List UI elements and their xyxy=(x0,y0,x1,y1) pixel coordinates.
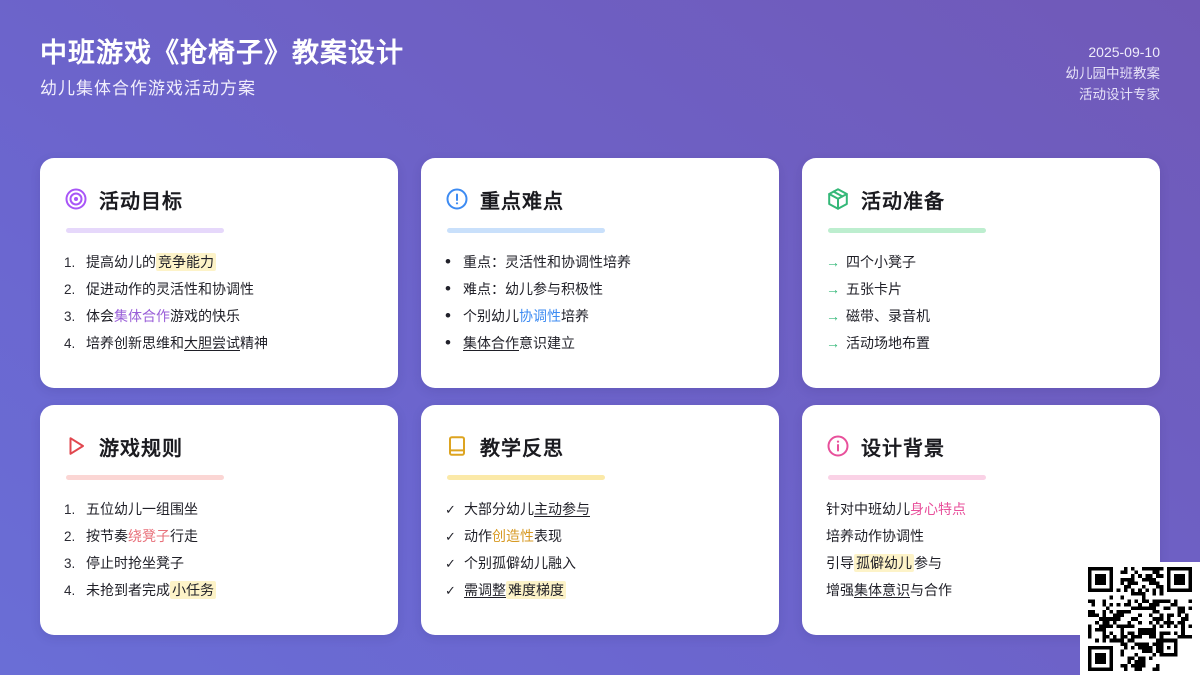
item-marker: 2. xyxy=(64,276,80,303)
page-subtitle: 幼儿集体合作游戏活动方案 xyxy=(40,76,404,102)
item-text-part: 集体合作 xyxy=(463,335,519,351)
card-title: 活动准备 xyxy=(861,185,945,214)
list-item: 针对中班幼儿身心特点 xyxy=(826,496,1136,523)
item-text-part: 促进动作的灵活性和协调性 xyxy=(86,281,254,297)
meta-date: 2025-09-10 xyxy=(1088,42,1160,63)
item-marker: 1. xyxy=(64,249,80,276)
item-text-part: 行走 xyxy=(170,528,198,544)
card-header: 活动目标 xyxy=(64,184,374,214)
item-text-part: 提高幼儿的 xyxy=(86,254,156,270)
item-text-part: 主动参与 xyxy=(534,501,590,517)
list-item: →活动场地布置 xyxy=(826,330,1136,357)
card-header: 重点难点 xyxy=(445,184,755,214)
item-text: 活动场地布置 xyxy=(846,330,930,357)
list-item: →四个小凳子 xyxy=(826,249,1136,276)
item-text-part: 集体意识 xyxy=(854,582,910,598)
list-item: 3.体会集体合作游戏的快乐 xyxy=(64,303,374,330)
item-text-part: 停止时抢坐凳子 xyxy=(86,555,184,571)
card-header: 游戏规则 xyxy=(64,431,374,461)
item-text: 针对中班幼儿身心特点 xyxy=(826,496,966,523)
item-text: 促进动作的灵活性和协调性 xyxy=(86,276,254,303)
header-meta: 2025-09-10 幼儿园中班教案 活动设计专家 xyxy=(1066,36,1161,105)
item-text: 磁带、录音机 xyxy=(846,303,930,330)
item-text: 大部分幼儿主动参与 xyxy=(464,496,590,523)
list-item: 4.未抢到者完成小任务 xyxy=(64,577,374,604)
card-item-list: 1.提高幼儿的竞争能力2.促进动作的灵活性和协调性3.体会集体合作游戏的快乐4.… xyxy=(64,249,374,357)
item-text-part: 四个小凳子 xyxy=(846,254,916,270)
list-item: 2.促进动作的灵活性和协调性 xyxy=(64,276,374,303)
item-marker: → xyxy=(826,249,840,276)
item-text-part: 竞争能力 xyxy=(156,253,216,271)
item-text: 停止时抢坐凳子 xyxy=(86,550,184,577)
item-text: 重点：灵活性和协调性培养 xyxy=(463,249,631,276)
item-text-part: 引导 xyxy=(826,555,854,571)
item-text-part: 绕凳子 xyxy=(128,528,170,544)
card-activity-goals: 活动目标1.提高幼儿的竞争能力2.促进动作的灵活性和协调性3.体会集体合作游戏的… xyxy=(40,158,398,388)
item-text-part: 个别幼儿 xyxy=(463,308,519,324)
target-icon xyxy=(64,187,88,211)
card-key-difficulties: 重点难点•重点：灵活性和协调性培养•难点：幼儿参与积极性•个别幼儿协调性培养•集… xyxy=(421,158,779,388)
alert-circle-icon xyxy=(445,187,469,211)
list-item: ✓需调整难度梯度 xyxy=(445,577,755,604)
card-accent-bar xyxy=(447,475,605,480)
item-text: 培养动作协调性 xyxy=(826,523,924,550)
item-text: 难点：幼儿参与积极性 xyxy=(463,276,603,303)
item-text-part: 培养 xyxy=(561,308,589,324)
item-text: 体会集体合作游戏的快乐 xyxy=(86,303,240,330)
item-marker: → xyxy=(826,303,840,330)
list-item: 1.五位幼儿一组围坐 xyxy=(64,496,374,523)
list-item: 培养动作协调性 xyxy=(826,523,1136,550)
list-item: ✓个别孤僻幼儿融入 xyxy=(445,550,755,577)
play-triangle-icon xyxy=(64,434,88,458)
card-accent-bar xyxy=(447,228,605,233)
item-text: 个别幼儿协调性培养 xyxy=(463,303,589,330)
item-marker: 3. xyxy=(64,550,80,577)
item-text-part: 培养动作协调性 xyxy=(826,528,924,544)
card-header: 设计背景 xyxy=(826,431,1136,461)
item-text-part: 身心特点 xyxy=(910,501,966,517)
list-item: •集体合作意识建立 xyxy=(445,330,755,357)
item-text-part: 个别孤僻幼儿融入 xyxy=(464,555,576,571)
qr-code[interactable] xyxy=(1088,567,1192,671)
item-text: 按节奏绕凳子行走 xyxy=(86,523,198,550)
item-text-part: 精神 xyxy=(240,335,268,351)
item-text-part: 与合作 xyxy=(910,582,952,598)
item-text: 需调整难度梯度 xyxy=(464,577,566,604)
item-marker: • xyxy=(445,249,457,275)
item-text: 个别孤僻幼儿融入 xyxy=(464,550,576,577)
list-item: 2.按节奏绕凳子行走 xyxy=(64,523,374,550)
card-accent-bar xyxy=(66,228,224,233)
page-header: 中班游戏《抢椅子》教案设计 幼儿集体合作游戏活动方案 2025-09-10 幼儿… xyxy=(0,0,1200,140)
item-text: 五位幼儿一组围坐 xyxy=(86,496,198,523)
meta-category: 幼儿园中班教案 xyxy=(1066,63,1161,84)
card-title: 重点难点 xyxy=(480,185,564,214)
item-text-part: 动作 xyxy=(464,528,492,544)
list-item: →磁带、录音机 xyxy=(826,303,1136,330)
item-text: 四个小凳子 xyxy=(846,249,916,276)
item-text-part: 难点：幼儿参与积极性 xyxy=(463,281,603,297)
title-block: 中班游戏《抢椅子》教案设计 幼儿集体合作游戏活动方案 xyxy=(40,36,404,102)
item-marker: ✓ xyxy=(445,496,458,523)
item-text: 动作创造性表现 xyxy=(464,523,562,550)
item-text-part: 参与 xyxy=(914,555,942,571)
item-marker: 4. xyxy=(64,330,80,357)
list-item: •个别幼儿协调性培养 xyxy=(445,303,755,330)
item-text-part: 增强 xyxy=(826,582,854,598)
item-text-part: 磁带、录音机 xyxy=(846,308,930,324)
card-header: 教学反思 xyxy=(445,431,755,461)
item-text-part: 协调性 xyxy=(519,308,561,324)
item-text-part: 集体合作 xyxy=(114,308,170,324)
item-marker: 2. xyxy=(64,523,80,550)
item-marker: • xyxy=(445,330,457,356)
meta-author: 活动设计专家 xyxy=(1079,84,1160,105)
item-text-part: 难度梯度 xyxy=(506,581,566,599)
item-text-part: 孤僻幼儿 xyxy=(854,554,914,572)
item-text-part: 五位幼儿一组围坐 xyxy=(86,501,198,517)
list-item: ✓大部分幼儿主动参与 xyxy=(445,496,755,523)
item-text: 集体合作意识建立 xyxy=(463,330,575,357)
item-text-part: 需调整 xyxy=(464,582,506,598)
card-title: 设计背景 xyxy=(861,432,945,461)
list-item: 1.提高幼儿的竞争能力 xyxy=(64,249,374,276)
item-text-part: 意识建立 xyxy=(519,335,575,351)
item-text-part: 大胆尝试 xyxy=(184,335,240,351)
card-accent-bar xyxy=(66,475,224,480)
item-marker: → xyxy=(826,330,840,357)
card-item-list: ✓大部分幼儿主动参与✓动作创造性表现✓个别孤僻幼儿融入✓需调整难度梯度 xyxy=(445,496,755,604)
item-marker: 1. xyxy=(64,496,80,523)
item-marker: → xyxy=(826,276,840,303)
book-icon xyxy=(445,434,469,458)
item-text-part: 未抢到者完成 xyxy=(86,582,170,598)
item-marker: 4. xyxy=(64,577,80,604)
card-item-list: →四个小凳子→五张卡片→磁带、录音机→活动场地布置 xyxy=(826,249,1136,357)
card-item-list: •重点：灵活性和协调性培养•难点：幼儿参与积极性•个别幼儿协调性培养•集体合作意… xyxy=(445,249,755,357)
item-text: 增强集体意识与合作 xyxy=(826,577,952,604)
item-marker: 3. xyxy=(64,303,80,330)
card-title: 活动目标 xyxy=(99,185,183,214)
card-teaching-reflection: 教学反思✓大部分幼儿主动参与✓动作创造性表现✓个别孤僻幼儿融入✓需调整难度梯度 xyxy=(421,405,779,635)
page-title: 中班游戏《抢椅子》教案设计 xyxy=(40,36,404,70)
item-text: 五张卡片 xyxy=(846,276,902,303)
package-icon xyxy=(826,187,850,211)
card-activity-preparation: 活动准备→四个小凳子→五张卡片→磁带、录音机→活动场地布置 xyxy=(802,158,1160,388)
item-text-part: 游戏的快乐 xyxy=(170,308,240,324)
item-text-part: 培养创新思维和 xyxy=(86,335,184,351)
card-item-list: 1.五位幼儿一组围坐2.按节奏绕凳子行走3.停止时抢坐凳子4.未抢到者完成小任务 xyxy=(64,496,374,604)
list-item: 3.停止时抢坐凳子 xyxy=(64,550,374,577)
qr-panel xyxy=(1080,562,1200,675)
item-marker: • xyxy=(445,303,457,329)
card-accent-bar xyxy=(828,475,986,480)
item-text-part: 针对中班幼儿 xyxy=(826,501,910,517)
item-text-part: 小任务 xyxy=(170,581,216,599)
list-item: 4.培养创新思维和大胆尝试精神 xyxy=(64,330,374,357)
item-marker: • xyxy=(445,276,457,302)
item-text-part: 表现 xyxy=(534,528,562,544)
item-text-part: 活动场地布置 xyxy=(846,335,930,351)
item-text-part: 创造性 xyxy=(492,528,534,544)
card-header: 活动准备 xyxy=(826,184,1136,214)
card-title: 教学反思 xyxy=(480,432,564,461)
list-item: •难点：幼儿参与积极性 xyxy=(445,276,755,303)
list-item: ✓动作创造性表现 xyxy=(445,523,755,550)
card-title: 游戏规则 xyxy=(99,432,183,461)
item-text-part: 按节奏 xyxy=(86,528,128,544)
item-text-part: 大部分幼儿 xyxy=(464,501,534,517)
item-text-part: 体会 xyxy=(86,308,114,324)
item-marker: ✓ xyxy=(445,523,458,550)
item-text: 未抢到者完成小任务 xyxy=(86,577,216,604)
card-game-rules: 游戏规则1.五位幼儿一组围坐2.按节奏绕凳子行走3.停止时抢坐凳子4.未抢到者完… xyxy=(40,405,398,635)
item-text: 培养创新思维和大胆尝试精神 xyxy=(86,330,268,357)
item-text: 引导孤僻幼儿参与 xyxy=(826,550,942,577)
item-marker: ✓ xyxy=(445,550,458,577)
item-text: 提高幼儿的竞争能力 xyxy=(86,249,216,276)
info-circle-icon xyxy=(826,434,850,458)
card-accent-bar xyxy=(828,228,986,233)
list-item: →五张卡片 xyxy=(826,276,1136,303)
list-item: •重点：灵活性和协调性培养 xyxy=(445,249,755,276)
item-text-part: 重点：灵活性和协调性培养 xyxy=(463,254,631,270)
item-marker: ✓ xyxy=(445,577,458,604)
item-text-part: 五张卡片 xyxy=(846,281,902,297)
card-grid: 活动目标1.提高幼儿的竞争能力2.促进动作的灵活性和协调性3.体会集体合作游戏的… xyxy=(40,158,1160,635)
